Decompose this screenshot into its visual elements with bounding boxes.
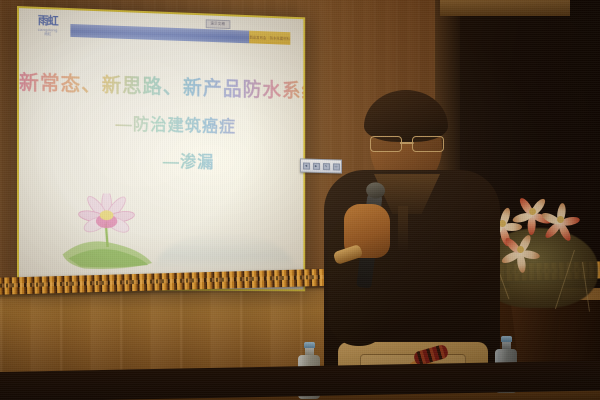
mist-graphic [154, 232, 296, 272]
slide-logo: 雨虹 cangdong 雨虹 [27, 14, 69, 37]
conference-presentation-photo: 雨虹 cangdong 雨虹 演示文稿 新品发布会 · 防水化建材料 新常态、新… [0, 0, 600, 400]
speaker [318, 96, 508, 400]
slide-title-line-2: —防治建筑癌症 [45, 108, 304, 139]
slide-logo-mark: 雨虹 [27, 14, 69, 27]
bottle-neck [305, 348, 314, 355]
slide-header-tag: 演示文稿 [206, 19, 230, 29]
slide-header-yellow-band: 新品发布会 · 防水化建材料 [249, 31, 290, 45]
slide-logo-subtext-secondary: 雨虹 [27, 32, 69, 37]
slide-title-block: 新常态、新思路、新产品防水系统 —防治建筑癌症 —渗漏 [19, 66, 303, 174]
bottle-neck [502, 342, 511, 349]
slide-title-line-1: 新常态、新思路、新产品防水系统 [19, 66, 303, 103]
slide-surface: 雨虹 cangdong 雨虹 演示文稿 新品发布会 · 防水化建材料 新常态、新… [19, 8, 303, 289]
slide-header-bar: 新品发布会 · 防水化建材料 [70, 24, 290, 45]
prev-slide-icon[interactable]: ◀ [303, 162, 310, 169]
speaker-hair [364, 90, 448, 142]
projection-screen: 雨虹 cangdong 雨虹 演示文稿 新品发布会 · 防水化建材料 新常态、新… [17, 6, 305, 291]
slide-title-line-3: —渗漏 [70, 145, 303, 174]
curtain-header-rail [440, 0, 570, 16]
eyeglasses-icon [370, 136, 444, 151]
lily-bloom [540, 204, 580, 234]
lotus-flower-icon [55, 193, 162, 271]
polo-placket [398, 206, 408, 250]
